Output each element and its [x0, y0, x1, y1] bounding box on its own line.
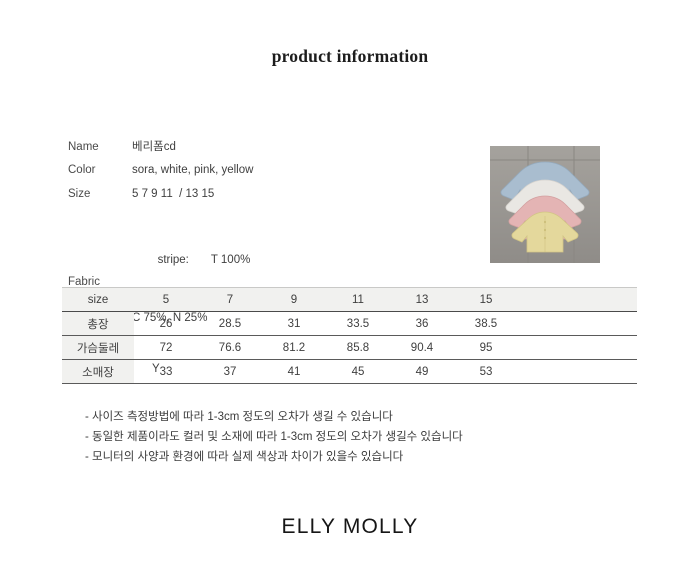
brand-logo-text: ELLY MOLLY: [0, 515, 700, 539]
cell-chest-9: 81.2: [262, 336, 326, 360]
spec-value-color: sora, white, pink, yellow: [132, 163, 253, 177]
cell-sleeve-7: 37: [198, 360, 262, 384]
cell-sleeve-15: 53: [454, 360, 518, 384]
cell-chest-15: 95: [454, 336, 518, 360]
spec-value-size: 5 7 9 11 / 13 15: [132, 187, 214, 201]
fabric-stripe-composition: T 100%: [211, 254, 250, 266]
cell-sleeve-11: 45: [326, 360, 390, 384]
note-line-3: - 모니터의 사양과 환경에 따라 실제 색상과 차이가 있을수 있습니다: [85, 447, 605, 467]
cell-chest-11: 85.8: [326, 336, 390, 360]
spec-value-name: 베리폼cd: [132, 140, 176, 154]
spec-label-color: Color: [68, 163, 132, 177]
col-header-7: 7: [198, 288, 262, 312]
cell-sleeve-9: 41: [262, 360, 326, 384]
spec-row-name: Name 베리폼cd: [68, 140, 428, 154]
note-line-1: - 사이즈 측정방법에 따라 1-3cm 정도의 오차가 생길 수 있습니다: [85, 407, 605, 427]
fabric-stripe-label: stripe:: [158, 254, 189, 266]
cell-total-length-5: 26: [134, 312, 198, 336]
cell-total-length-15: 38.5: [454, 312, 518, 336]
table-header-row: size 5 7 9 11 13 15: [62, 288, 637, 312]
cell-sleeve-13: 49: [390, 360, 454, 384]
disclaimer-notes: - 사이즈 측정방법에 따라 1-3cm 정도의 오차가 생길 수 있습니다 -…: [85, 407, 605, 467]
product-photo-illustration: [490, 146, 600, 263]
spec-row-size: Size 5 7 9 11 / 13 15: [68, 187, 428, 201]
table-row: 소매장 33 37 41 45 49 53: [62, 360, 637, 384]
row-label-sleeve-length: 소매장: [62, 360, 134, 384]
cell-chest-5: 72: [134, 336, 198, 360]
cell-total-length-empty: [518, 312, 637, 336]
cell-sleeve-5: 33: [134, 360, 198, 384]
row-label-total-length: 총장: [62, 312, 134, 336]
col-header-9: 9: [262, 288, 326, 312]
col-header-empty: [518, 288, 637, 312]
size-chart-table: size 5 7 9 11 13 15 총장 26 28.5 31 33.5 3…: [62, 287, 637, 384]
spec-label-name: Name: [68, 140, 132, 154]
col-header-size: size: [62, 288, 134, 312]
row-label-chest: 가슴둘레: [62, 336, 134, 360]
cell-total-length-9: 31: [262, 312, 326, 336]
col-header-15: 15: [454, 288, 518, 312]
cell-chest-13: 90.4: [390, 336, 454, 360]
spec-row-color: Color sora, white, pink, yellow: [68, 163, 428, 177]
cell-total-length-7: 28.5: [198, 312, 262, 336]
spec-label-size: Size: [68, 187, 132, 201]
col-header-11: 11: [326, 288, 390, 312]
size-chart: size 5 7 9 11 13 15 총장 26 28.5 31 33.5 3…: [62, 287, 637, 384]
table-row: 가슴둘레 72 76.6 81.2 85.8 90.4 95: [62, 336, 637, 360]
note-line-2: - 동일한 제품이라도 컬러 및 소재에 따라 1-3cm 정도의 오차가 생길…: [85, 427, 605, 447]
page-title: product information: [0, 46, 700, 67]
cell-total-length-11: 33.5: [326, 312, 390, 336]
cell-chest-empty: [518, 336, 637, 360]
cell-total-length-13: 36: [390, 312, 454, 336]
product-photo: [490, 146, 600, 263]
col-header-5: 5: [134, 288, 198, 312]
cell-chest-7: 76.6: [198, 336, 262, 360]
cell-sleeve-empty: [518, 360, 637, 384]
table-row: 총장 26 28.5 31 33.5 36 38.5: [62, 312, 637, 336]
col-header-13: 13: [390, 288, 454, 312]
